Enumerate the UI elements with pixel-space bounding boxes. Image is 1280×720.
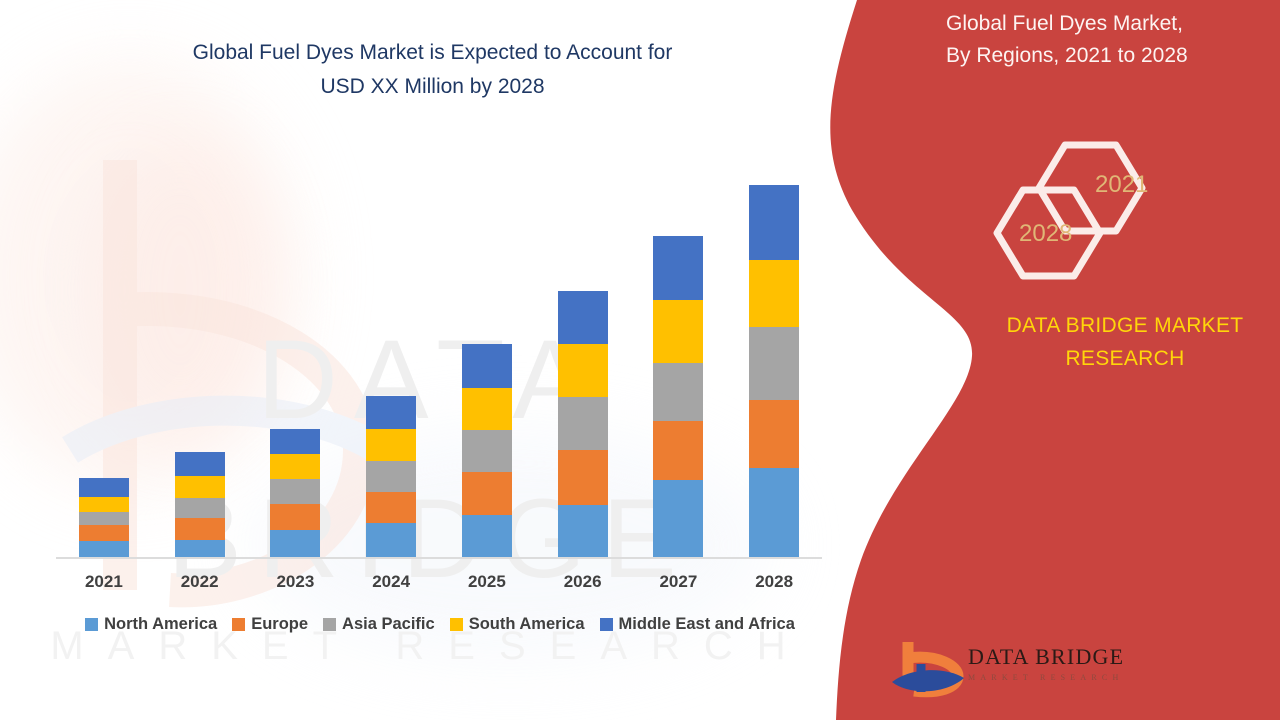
bar-segment: [462, 515, 512, 557]
bar-segment: [366, 396, 416, 429]
brand-line-1: DATA BRIDGE MARKET: [975, 310, 1275, 343]
bar-segment: [558, 397, 608, 450]
bar-2023: [270, 429, 320, 557]
bar-segment: [175, 476, 225, 498]
bar-segment: [79, 478, 129, 497]
bar-segment: [79, 541, 129, 557]
bar-segment: [175, 540, 225, 557]
bar-segment: [653, 236, 703, 300]
x-axis-label-2021: 2021: [79, 572, 129, 600]
panel-title-line-1: Global Fuel Dyes Market,: [946, 8, 1266, 40]
x-axis-label-2024: 2024: [366, 572, 416, 600]
bar-segment: [366, 492, 416, 523]
x-axis-label-2023: 2023: [270, 572, 320, 600]
legend-label: Europe: [251, 615, 308, 634]
x-axis-label-2026: 2026: [558, 572, 608, 600]
chart-title-line-1: Global Fuel Dyes Market is Expected to A…: [60, 36, 805, 70]
bar-segment: [79, 497, 129, 512]
bar-segment: [462, 388, 512, 430]
legend-swatch-icon: [600, 618, 613, 631]
bar-segment: [175, 452, 225, 476]
bar-segment: [558, 505, 608, 557]
chart-legend: North AmericaEuropeAsia PacificSouth Ame…: [50, 615, 830, 634]
bar-2022: [175, 452, 225, 557]
bar-segment: [366, 429, 416, 461]
bar-segment: [462, 430, 512, 472]
x-axis-label-2025: 2025: [462, 572, 512, 600]
hexagon-2028-label: 2028: [1019, 220, 1072, 248]
panel-title-line-2: By Regions, 2021 to 2028: [946, 40, 1266, 72]
hexagon-badges: [985, 140, 1185, 285]
bar-segment: [462, 472, 512, 515]
bar-2021: [79, 478, 129, 557]
legend-label: Asia Pacific: [342, 615, 435, 634]
x-axis-label-2027: 2027: [653, 572, 703, 600]
bar-segment: [749, 468, 799, 557]
legend-item[interactable]: Middle East and Africa: [600, 615, 795, 634]
legend-item[interactable]: Europe: [232, 615, 308, 634]
bar-segment: [749, 327, 799, 400]
bar-segment: [79, 512, 129, 525]
bar-chart-plot: [56, 150, 822, 557]
bar-segment: [270, 530, 320, 557]
legend-item[interactable]: South America: [450, 615, 585, 634]
x-axis-label-2028: 2028: [749, 572, 799, 600]
bar-segment: [749, 260, 799, 327]
bar-segment: [558, 450, 608, 505]
bar-2027: [653, 236, 703, 557]
bar-segment: [749, 400, 799, 468]
bar-2028: [749, 185, 799, 557]
x-axis-line: [56, 557, 822, 559]
bar-segment: [558, 344, 608, 397]
brand-line-2: RESEARCH: [975, 343, 1275, 376]
logo-text: DATA BRIDGE MARKET RESEARCH: [968, 644, 1124, 682]
logo-sub-text: MARKET RESEARCH: [968, 673, 1124, 682]
bar-segment: [79, 525, 129, 541]
bar-segment: [270, 454, 320, 479]
legend-swatch-icon: [450, 618, 463, 631]
legend-item[interactable]: North America: [85, 615, 217, 634]
legend-item[interactable]: Asia Pacific: [323, 615, 435, 634]
bar-2025: [462, 344, 512, 557]
bar-segment: [462, 344, 512, 388]
legend-swatch-icon: [85, 618, 98, 631]
logo-main-text: DATA BRIDGE: [968, 644, 1124, 670]
legend-label: Middle East and Africa: [619, 615, 795, 634]
x-axis-tick-labels: 20212022202320242025202620272028: [56, 572, 822, 600]
chart-title-line-2: USD XX Million by 2028: [60, 70, 805, 104]
bar-2026: [558, 291, 608, 557]
brand-name: DATA BRIDGE MARKET RESEARCH: [975, 310, 1275, 375]
legend-label: North America: [104, 615, 217, 634]
bar-segment: [558, 291, 608, 344]
bar-segment: [175, 498, 225, 518]
bar-segment: [749, 185, 799, 260]
legend-swatch-icon: [232, 618, 245, 631]
bar-segment: [366, 461, 416, 492]
bar-segment: [175, 518, 225, 540]
legend-swatch-icon: [323, 618, 336, 631]
x-axis-label-2022: 2022: [175, 572, 225, 600]
hexagon-2021-label: 2021: [1095, 171, 1148, 199]
bar-segment: [653, 480, 703, 557]
page-title: Global Fuel Dyes Market is Expected to A…: [60, 36, 805, 104]
bar-segment: [366, 523, 416, 557]
bar-segment: [653, 421, 703, 480]
bar-segment: [270, 479, 320, 504]
bar-2024: [366, 396, 416, 557]
bar-segment: [653, 300, 703, 363]
slide-canvas: DATA BRIDGE MARKET RESEARCH Global Fuel …: [0, 0, 1280, 720]
legend-label: South America: [469, 615, 585, 634]
panel-title: Global Fuel Dyes Market, By Regions, 202…: [946, 8, 1266, 72]
bar-segment: [653, 363, 703, 421]
bar-segment: [270, 429, 320, 454]
bar-segment: [270, 504, 320, 530]
